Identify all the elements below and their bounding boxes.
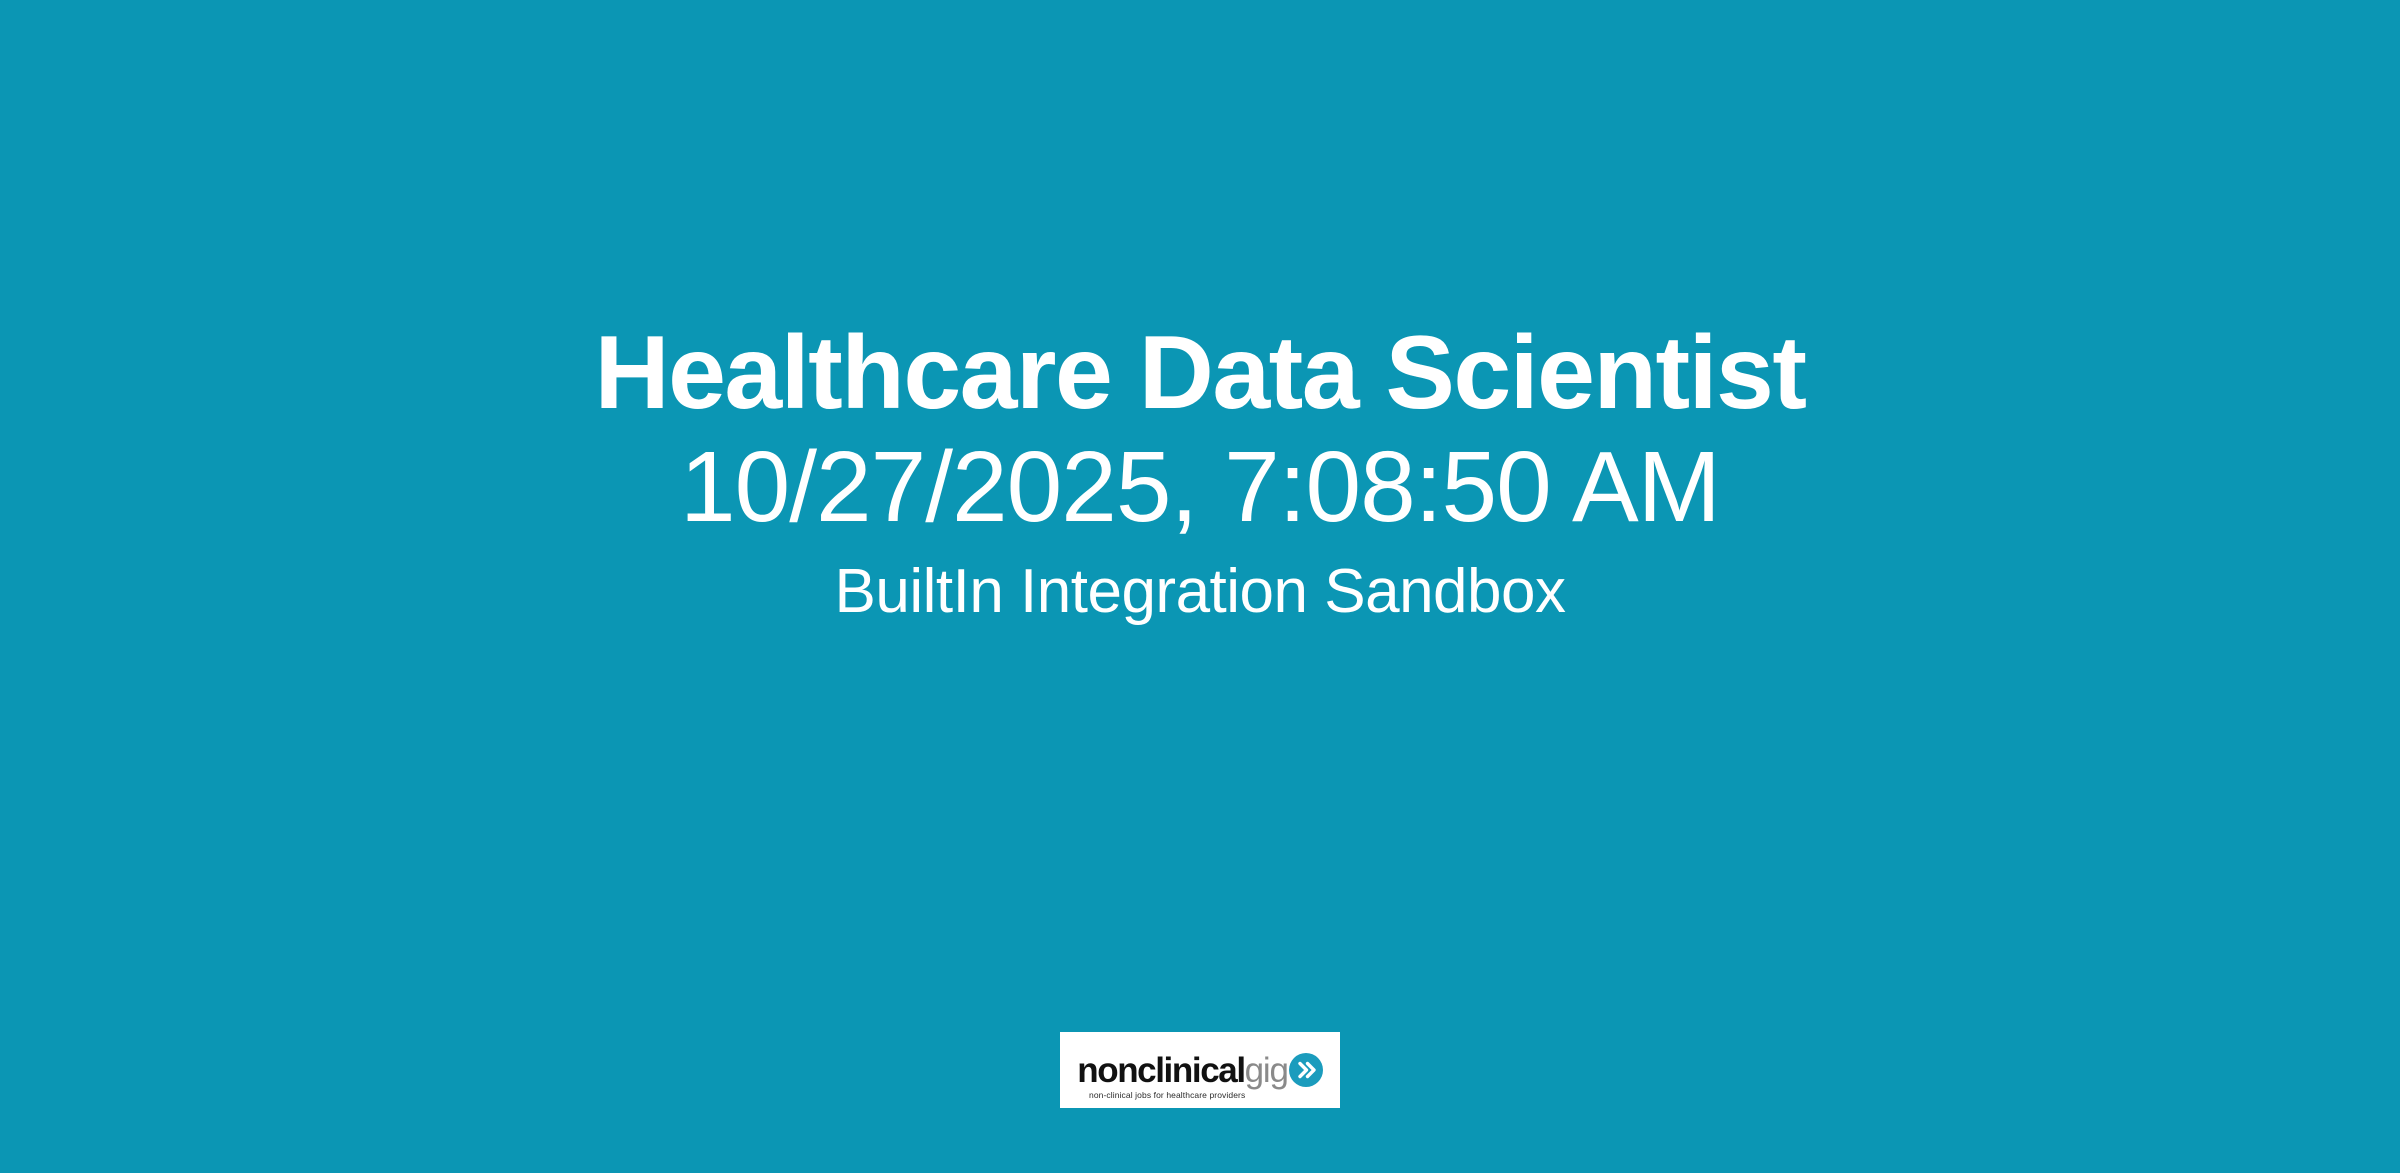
logo-word-nonclinical: nonclinical [1077, 1053, 1244, 1088]
subtitle: BuiltIn Integration Sandbox [120, 558, 2280, 626]
logo-tagline: non-clinical jobs for healthcare provide… [1089, 1090, 1245, 1100]
page-title: Healthcare Data Scientist [120, 318, 2280, 428]
timestamp: 10/27/2025, 7:08:50 AM [120, 434, 2280, 540]
share-card: Healthcare Data Scientist 10/27/2025, 7:… [0, 0, 2400, 1173]
logo-word-gig: gig [1245, 1053, 1288, 1088]
logo-wordmark: nonclinical gig [1077, 1053, 1288, 1088]
double-chevron-right-icon [1289, 1053, 1323, 1087]
logo-lockup: nonclinical gig non-clinical jobs for he… [1073, 1047, 1327, 1093]
card-text-block: Healthcare Data Scientist 10/27/2025, 7:… [0, 318, 2400, 626]
brand-logo: nonclinical gig non-clinical jobs for he… [1060, 1032, 1340, 1108]
